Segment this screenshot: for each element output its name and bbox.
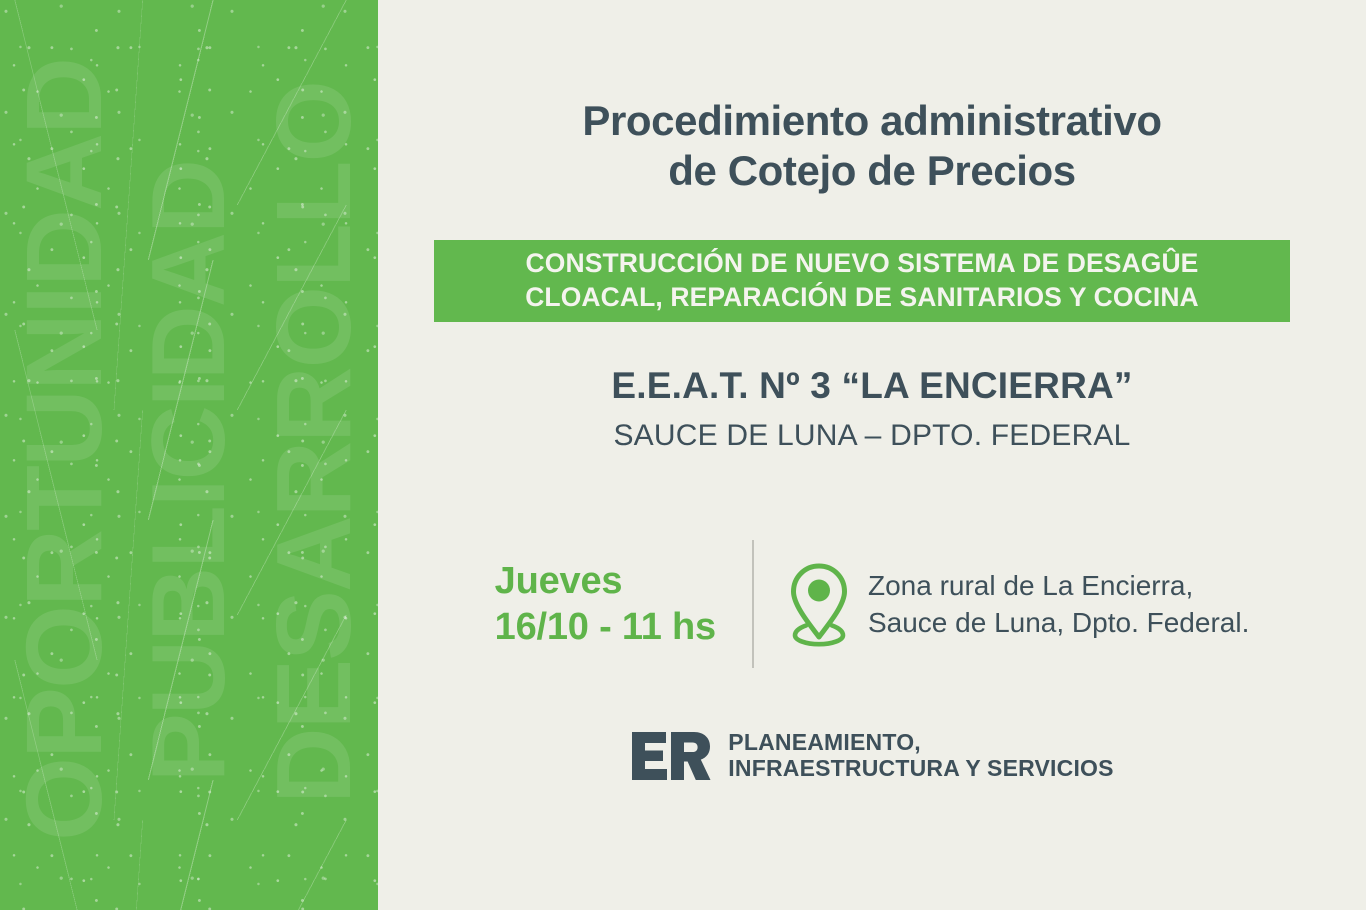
event-day: Jueves: [495, 558, 716, 604]
panel-speckle-texture: [0, 0, 378, 910]
content-area: Procedimiento administrativo de Cotejo d…: [378, 0, 1366, 910]
event-info-row: Jueves 16/10 - 11 hs Zona rural de La En…: [378, 540, 1366, 668]
watermark-word-2: PUBLICIDAD: [142, 161, 238, 782]
banner-line-2: CLOACAL, REPARACIÓN DE SANITARIOS Y COCI…: [525, 281, 1199, 315]
title-line-2: de Cotejo de Precios: [378, 146, 1366, 196]
place-line-2: Sauce de Luna, Dpto. Federal.: [868, 604, 1249, 641]
watermark-word-3: DESARROLLO: [266, 82, 364, 804]
event-place-text: Zona rural de La Encierra, Sauce de Luna…: [868, 567, 1249, 641]
school-name: E.E.A.T. Nº 3 “LA ENCIERRA”: [378, 364, 1366, 408]
banner-line-1: CONSTRUCCIÓN DE NUEVO SISTEMA DE DESAGÛE: [526, 247, 1199, 281]
event-date-block: Jueves 16/10 - 11 hs: [495, 558, 752, 651]
left-green-panel: OPORTUNIDAD PUBLICIDAD DESARROLLO: [0, 0, 378, 910]
organization-logo: PLANEAMIENTO, INFRAESTRUCTURA Y SERVICIO…: [378, 730, 1366, 782]
poster-root: OPORTUNIDAD PUBLICIDAD DESARROLLO Proced…: [0, 0, 1366, 910]
place-line-1: Zona rural de La Encierra,: [868, 567, 1249, 604]
map-pin-icon: [788, 561, 850, 647]
watermark-word-1: OPORTUNIDAD: [14, 59, 113, 841]
panel-scratch-texture: [0, 0, 378, 910]
logo-line-2: INFRAESTRUCTURA Y SERVICIOS: [728, 756, 1113, 782]
organization-logo-text: PLANEAMIENTO, INFRAESTRUCTURA Y SERVICIO…: [728, 730, 1113, 782]
event-date-time: 16/10 - 11 hs: [495, 604, 716, 650]
school-location: SAUCE DE LUNA – DPTO. FEDERAL: [378, 418, 1366, 454]
watermark-stack: OPORTUNIDAD PUBLICIDAD DESARROLLO: [0, 0, 378, 910]
title-line-1: Procedimiento administrativo: [378, 96, 1366, 146]
event-place-block: Zona rural de La Encierra, Sauce de Luna…: [754, 561, 1249, 647]
page-title: Procedimiento administrativo de Cotejo d…: [378, 96, 1366, 195]
logo-line-1: PLANEAMIENTO,: [728, 730, 1113, 756]
project-banner: CONSTRUCCIÓN DE NUEVO SISTEMA DE DESAGÛE…: [434, 240, 1290, 322]
school-block: E.E.A.T. Nº 3 “LA ENCIERRA” SAUCE DE LUN…: [378, 364, 1366, 454]
er-monogram-icon: [630, 730, 712, 782]
